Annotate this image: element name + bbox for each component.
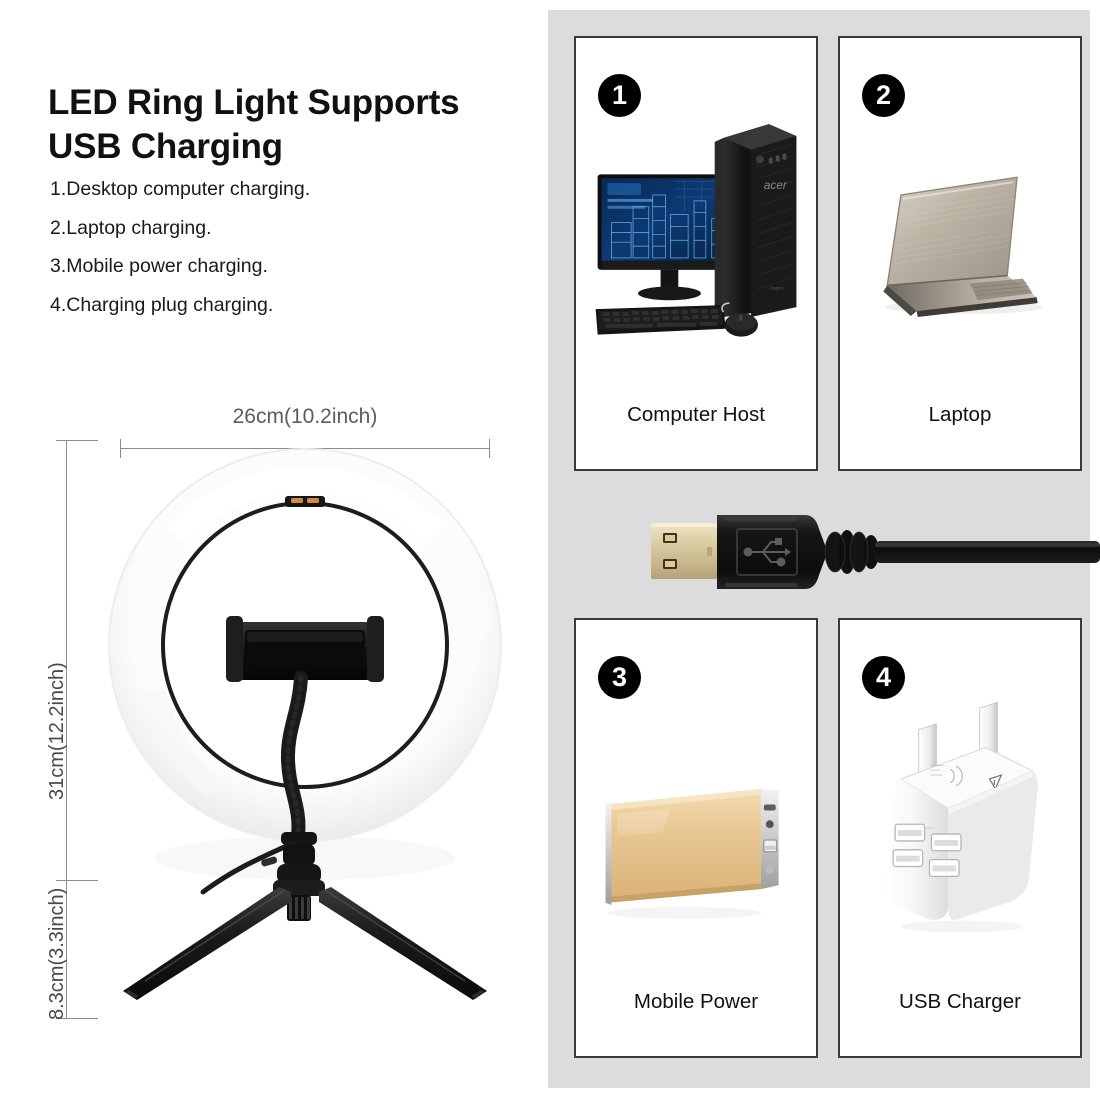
usb-output-port — [764, 840, 777, 852]
left-info-panel: LED Ring Light Supports USB Charging 1.D… — [0, 0, 548, 1100]
card-number-badge: 2 — [862, 74, 905, 117]
dimension-tick-top — [56, 440, 98, 441]
phone-holder-clamp — [226, 616, 384, 682]
cable-strain-relief — [825, 530, 879, 574]
product-card-computer-host[interactable]: 1 — [574, 36, 818, 471]
product-card-mobile-power[interactable]: 3 — [574, 618, 818, 1058]
ring-light-top-connector — [285, 496, 325, 507]
list-item: 3.Mobile power charging. — [50, 255, 520, 278]
keyboard — [596, 305, 726, 335]
product-card-laptop[interactable]: 2 — [838, 36, 1082, 471]
width-dimension-label: 26cm(10.2inch) — [120, 405, 490, 429]
ring-light-product-image — [95, 440, 515, 1040]
card-number-badge: 1 — [598, 74, 641, 117]
list-item: 1.Desktop computer charging. — [50, 178, 520, 201]
monitor — [598, 174, 744, 300]
dimension-tick-middle — [56, 880, 98, 881]
uk-plug-pins — [919, 702, 998, 806]
svg-text:acer: acer — [764, 178, 788, 192]
base-height-dimension-label: 8.3cm(3.3inch) — [46, 888, 69, 1020]
laptop-lid — [887, 177, 1017, 285]
usb-cable-wire — [875, 541, 1100, 563]
power-bank-body — [606, 789, 779, 905]
card-caption: Computer Host — [576, 403, 816, 427]
feature-list: 1.Desktop computer charging. 2.Laptop ch… — [50, 178, 520, 332]
height-dimension-label: 31cm(12.2inch) — [46, 662, 69, 800]
usb-port-group — [893, 824, 961, 876]
page-title: LED Ring Light Supports USB Charging — [48, 81, 518, 169]
power-button — [766, 820, 774, 828]
usb-type-a-connector — [645, 505, 1100, 600]
svg-text:Aspire: Aspire — [770, 285, 784, 291]
charger-body — [885, 771, 1038, 920]
card-caption: USB Charger — [840, 990, 1080, 1014]
card-number-badge: 4 — [862, 656, 905, 699]
list-item: 4.Charging plug charging. — [50, 294, 520, 317]
product-card-usb-charger[interactable]: 4 — [838, 618, 1082, 1058]
card-caption: Mobile Power — [576, 990, 816, 1014]
usb-housing — [717, 515, 825, 589]
mouse — [722, 303, 758, 336]
card-number-badge: 3 — [598, 656, 641, 699]
laptop-base — [883, 276, 1037, 317]
usb-metal-contact — [651, 523, 717, 579]
list-item: 2.Laptop charging. — [50, 217, 520, 240]
micro-usb-port — [764, 805, 776, 811]
computer-tower: acer Aspire — [715, 124, 797, 317]
charger-top-face — [901, 748, 1033, 809]
card-caption: Laptop — [840, 403, 1080, 427]
